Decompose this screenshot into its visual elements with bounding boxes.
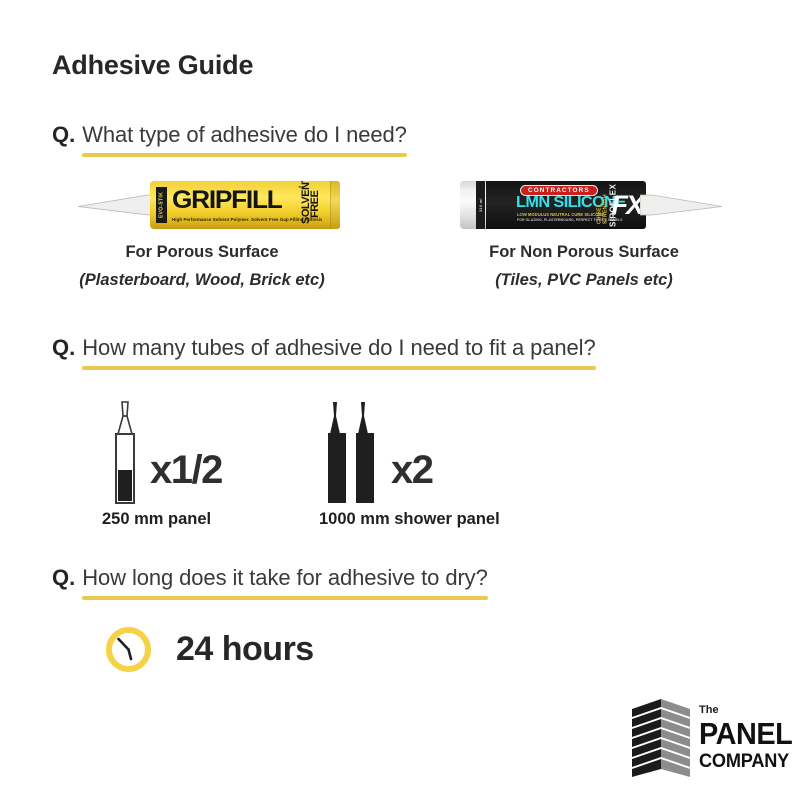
- answer-text: 24 hours: [176, 630, 314, 669]
- tube-volume-text: 310 ml: [476, 181, 485, 229]
- quantity-multiplier-label: x1/2: [150, 450, 222, 490]
- logo-panel-text: PANEL: [699, 718, 792, 749]
- tube-strength-text: CHISEL STRENGTH: [598, 186, 607, 224]
- question-marker: Q.: [52, 335, 75, 361]
- tube-cap: [330, 181, 340, 229]
- quantity-multiplier-label: x2: [391, 450, 433, 490]
- question-text-wrap: How many tubes of adhesive do I need to …: [82, 335, 595, 370]
- tube-side-brand: EVO-STIK: [156, 187, 167, 223]
- logo-wordmark: The PANEL COMPANY: [699, 705, 799, 772]
- panel-size-label: 250 mm panel: [102, 510, 211, 529]
- question-2-text: How many tubes of adhesive do I need to …: [82, 335, 595, 360]
- page-title: Adhesive Guide: [52, 50, 253, 81]
- panel-company-logo: The PANEL COMPANY: [632, 697, 799, 779]
- question-3-text: How long does it take for adhesive to dr…: [82, 565, 487, 590]
- non-porous-surface-caption: For Non Porous Surface (Tiles, PVC Panel…: [354, 243, 800, 290]
- half-tube-quantity-group: x1/2 250 mm panel: [108, 400, 148, 505]
- drying-time-answer: 24 hours: [105, 626, 314, 673]
- question-text-wrap: How long does it take for adhesive to dr…: [82, 565, 487, 600]
- tube-label: CONTRACTORS LMN SILICONE LOW MODULUS NEU…: [486, 181, 646, 229]
- question-2: Q. How many tubes of adhesive do I need …: [52, 335, 596, 370]
- nozzle-icon: [640, 193, 722, 217]
- logo-the-text: The: [699, 705, 799, 716]
- panel-size-label: 1000 mm shower panel: [319, 510, 500, 529]
- tube-body: 310 ml CONTRACTORS LMN SILICONE LOW MODU…: [460, 181, 646, 229]
- caption-line-1: For Non Porous Surface: [354, 243, 800, 262]
- clock-icon: [105, 626, 152, 673]
- fx-mark: FX: [611, 182, 642, 228]
- question-1-text: What type of adhesive do I need?: [82, 122, 407, 147]
- tubes-solid-icon: [325, 400, 387, 505]
- adhesive-guide-infographic: Adhesive Guide Q. What type of adhesive …: [0, 0, 800, 800]
- two-tubes-icon: [325, 400, 387, 505]
- question-marker: Q.: [52, 565, 75, 591]
- gripfill-adhesive-tube: EVO-STIK GRIPFILL ™ SOLVENTFREE High Per…: [78, 181, 340, 229]
- lmn-silicone-tube: 310 ml CONTRACTORS LMN SILICONE LOW MODU…: [460, 181, 722, 229]
- question-1: Q. What type of adhesive do I need?: [52, 122, 407, 157]
- half-tube-icon: [108, 400, 148, 505]
- tube-outline-icon: [108, 400, 148, 505]
- tube-body: EVO-STIK GRIPFILL ™ SOLVENTFREE High Per…: [150, 181, 340, 229]
- logo-company-text: COMPANY: [699, 752, 792, 772]
- nozzle-icon: [78, 193, 160, 217]
- tube-brand-name: GRIPFILL: [172, 185, 304, 215]
- two-tubes-quantity-group: x2 1000 mm shower panel: [325, 400, 387, 505]
- question-underline: [82, 153, 407, 157]
- question-text-wrap: What type of adhesive do I need?: [82, 122, 407, 157]
- tube-strapline: High Performance Solvent Polymer. Solven…: [172, 217, 322, 222]
- caption-line-2: (Tiles, PVC Panels etc): [354, 271, 800, 290]
- question-underline: [82, 366, 595, 370]
- question-3: Q. How long does it take for adhesive to…: [52, 565, 488, 600]
- panel-stack-logo-mark: [632, 697, 690, 779]
- question-underline: [82, 596, 487, 600]
- question-marker: Q.: [52, 122, 75, 148]
